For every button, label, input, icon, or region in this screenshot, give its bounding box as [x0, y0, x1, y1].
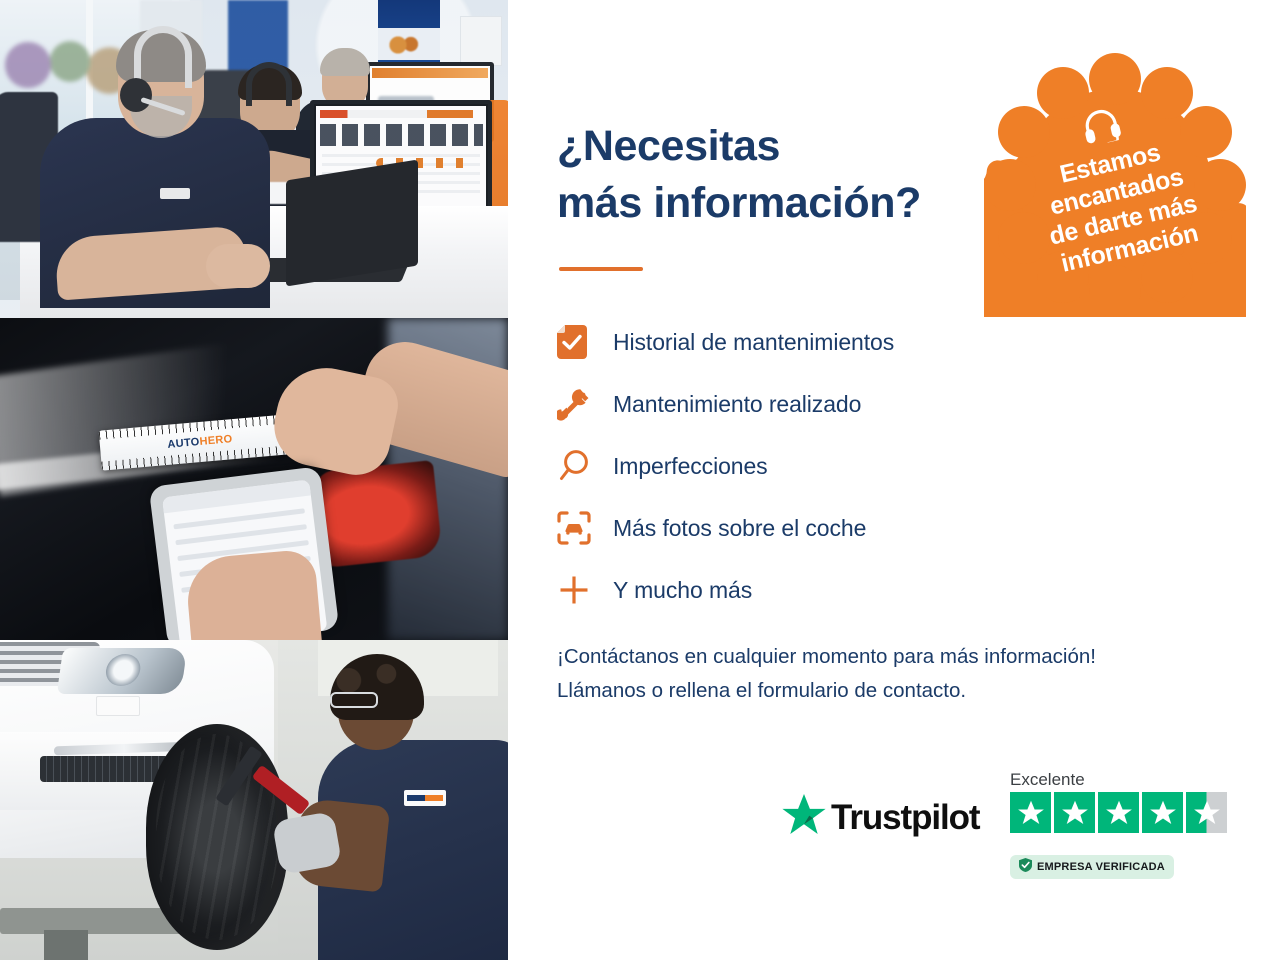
laptop-screen — [286, 160, 418, 287]
autohero-logo-auto: AUTO — [167, 436, 200, 451]
feature-item-imperfections: Imperfecciones — [557, 435, 1077, 497]
magnifier-icon — [557, 449, 613, 483]
feature-item-much-more: Y mucho más — [557, 559, 1077, 621]
feature-label: Imperfecciones — [613, 453, 768, 480]
trustpilot-stars — [1010, 792, 1227, 833]
verified-check-icon — [1019, 858, 1032, 877]
trustpilot-star-3 — [1098, 792, 1139, 833]
mechanic-glasses — [330, 692, 378, 708]
car-taillight — [313, 460, 442, 568]
page-title: ¿Necesitas más información? — [557, 118, 987, 232]
wall-poster-image — [378, 28, 440, 60]
trustpilot-star-1 — [1010, 792, 1051, 833]
info-panel: ¿Necesitas más información? Historial de… — [508, 0, 1280, 960]
agent-1-polo-logo — [160, 188, 190, 199]
contact-paragraph: ¡Contáctanos en cualquier momento para m… — [557, 640, 1237, 709]
feature-label: Historial de mantenimientos — [613, 329, 894, 356]
wrench-screwdriver-icon — [557, 387, 613, 421]
verified-company-label: EMPRESA VERIFICADA — [1037, 861, 1165, 873]
feature-label: Y mucho más — [613, 577, 752, 604]
page-title-line-1: ¿Necesitas — [557, 118, 987, 175]
contact-line-1: ¡Contáctanos en cualquier momento para m… — [557, 640, 1237, 674]
feature-item-more-photos: Más fotos sobre el coche — [557, 497, 1077, 559]
feature-item-maintenance-done: Mantenimiento realizado — [557, 373, 1077, 435]
feature-item-maintenance-history: Historial de mantenimientos — [557, 311, 1077, 373]
feature-label: Más fotos sobre el coche — [613, 515, 866, 542]
car-lift-leg — [44, 930, 88, 960]
document-check-icon — [557, 325, 613, 359]
autohero-logo: AUTOHERO — [167, 433, 233, 451]
trustpilot-star-4 — [1142, 792, 1183, 833]
feature-label: Mantenimiento realizado — [613, 391, 861, 418]
trustpilot-star-icon — [782, 794, 826, 841]
agent-1-earcup — [120, 78, 152, 112]
car-wheel — [146, 724, 288, 950]
title-divider — [559, 267, 643, 271]
wall-notice — [460, 16, 502, 66]
agent-1-hand — [206, 244, 270, 288]
trustpilot-rating-label: Excelente — [1010, 770, 1085, 790]
support-badge: Estamos encantados de darte más informac… — [984, 53, 1246, 317]
photo-column: AUTOHERO — [0, 0, 508, 960]
trustpilot-logo[interactable]: Trustpilot — [782, 794, 979, 841]
call-center-agents-photo — [0, 0, 508, 318]
screen-car-thumbnails — [320, 124, 483, 146]
contact-line-2: Llámanos o rellena el formulario de cont… — [557, 674, 1237, 708]
feature-list: Historial de mantenimientos — [557, 311, 1077, 621]
outdoor-foliage — [4, 30, 124, 100]
licence-plate-area — [96, 696, 140, 716]
mechanic-polo-logo — [404, 790, 446, 806]
trustpilot-star-5-half — [1186, 792, 1227, 833]
trustpilot-wordmark: Trustpilot — [831, 798, 979, 838]
car-scan-icon — [557, 511, 613, 545]
paint-inspection-photo: AUTOHERO — [0, 318, 508, 640]
car-headlight — [57, 648, 187, 694]
tablet-app-header — [162, 480, 311, 514]
screen-toolbar — [320, 110, 473, 118]
trustpilot-star-2 — [1054, 792, 1095, 833]
verified-company-badge: EMPRESA VERIFICADA — [1010, 855, 1174, 879]
trustpilot-block: Trustpilot Excelente — [782, 770, 1202, 882]
wheel-service-photo — [0, 640, 508, 960]
agent-3-hair — [320, 48, 370, 76]
headset-icon — [1079, 103, 1125, 151]
promo-panel: AUTOHERO — [0, 0, 1280, 960]
agent-2-headset — [246, 62, 292, 106]
page-title-line-2: más información? — [557, 175, 987, 232]
autohero-logo-hero: HERO — [199, 433, 233, 448]
plus-icon — [557, 573, 613, 607]
